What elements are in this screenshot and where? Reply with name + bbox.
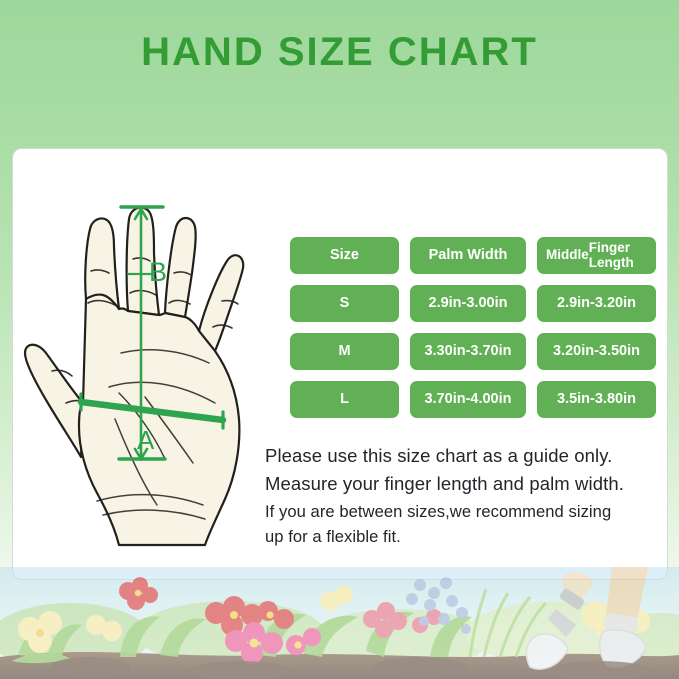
- note-line-3: If you are between sizes,we recommend si…: [265, 501, 665, 523]
- content-card: B A Size Palm Width Middle Finger Length: [12, 148, 668, 580]
- cell-palm-width-s: 2.9in-3.00in: [410, 285, 526, 322]
- cell-finger-length-s: 2.9in-3.20in: [537, 285, 656, 322]
- header-middle-line1: Middle: [546, 248, 589, 263]
- measure-a-label: A: [137, 425, 155, 455]
- table-row: M 3.30in-3.70in 3.20in-3.50in: [290, 333, 656, 370]
- table-row: S 2.9in-3.00in 2.9in-3.20in: [290, 285, 656, 322]
- size-guide-note: Please use this size chart as a guide on…: [265, 442, 665, 549]
- cell-palm-width-m: 3.30in-3.70in: [410, 333, 526, 370]
- hand-size-chart-poster: HAND SIZE CHART: [0, 0, 679, 679]
- hand-diagram: B A: [23, 181, 285, 561]
- cell-size-m: M: [290, 333, 399, 370]
- header-middle-line2: Finger Length: [589, 241, 656, 271]
- note-line-2: Measure your finger length and palm widt…: [265, 470, 665, 498]
- page-title: HAND SIZE CHART: [0, 30, 679, 75]
- note-line-1: Please use this size chart as a guide on…: [265, 442, 665, 470]
- cell-finger-length-m: 3.20in-3.50in: [537, 333, 656, 370]
- table-header-row: Size Palm Width Middle Finger Length: [290, 237, 656, 274]
- header-cell-palm-width: Palm Width: [410, 237, 526, 274]
- header-cell-middle-finger-length: Middle Finger Length: [537, 237, 656, 274]
- size-table: Size Palm Width Middle Finger Length S 2…: [290, 237, 656, 429]
- cell-size-s: S: [290, 285, 399, 322]
- garden-photo-band: [0, 567, 679, 679]
- measure-b-label: B: [149, 257, 167, 287]
- note-line-4: up for a flexible fit.: [265, 526, 665, 548]
- table-row: L 3.70in-4.00in 3.5in-3.80in: [290, 381, 656, 418]
- garden-scene-svg: [0, 567, 679, 679]
- cell-palm-width-l: 3.70in-4.00in: [410, 381, 526, 418]
- cell-finger-length-l: 3.5in-3.80in: [537, 381, 656, 418]
- hand-illustration-svg: B A: [23, 181, 285, 561]
- header-cell-size: Size: [290, 237, 399, 274]
- cell-size-l: L: [290, 381, 399, 418]
